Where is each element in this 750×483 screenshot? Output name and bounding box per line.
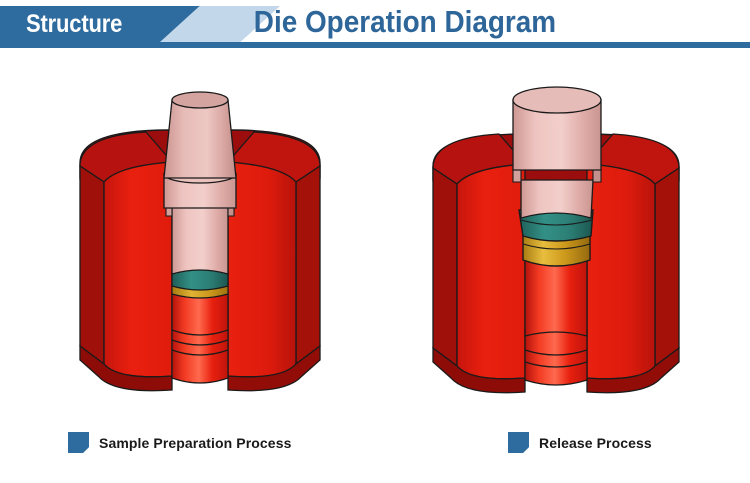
page-header: Structure Die Operation Diagram (0, 0, 750, 52)
punch-cone-head (164, 100, 236, 178)
page-title: Die Operation Diagram (0, 4, 750, 40)
die-diagram-release (415, 78, 695, 418)
punch-shaft (172, 206, 228, 274)
page-title-text: Die Operation Diagram (254, 4, 556, 40)
bullet-square-icon (68, 432, 89, 453)
die-left-bevel (80, 166, 104, 364)
figure-release (415, 78, 695, 418)
caption-label: Sample Preparation Process (99, 435, 291, 451)
upper-red-column (525, 256, 587, 336)
punch-top-face (513, 87, 601, 113)
die-right-bevel (296, 166, 320, 364)
figure-sample-preparation (60, 78, 340, 418)
die-left-front-face (104, 162, 172, 377)
bullet-square-icon (508, 432, 529, 453)
die-right-front-face (587, 164, 655, 379)
punch-lower-flange (521, 180, 593, 218)
die-right-bevel (655, 168, 679, 366)
die-left-front-face (457, 164, 525, 379)
die-diagram-sample-preparation (60, 78, 340, 418)
die-right-front-face (228, 162, 296, 377)
inner-red-column (172, 293, 228, 383)
caption-label: Release Process (539, 435, 652, 451)
punch-top-face (172, 92, 228, 108)
caption-sample-preparation: Sample Preparation Process (68, 432, 291, 453)
page-root: Structure Die Operation Diagram (0, 0, 750, 483)
inner-red-column (525, 330, 587, 385)
caption-release: Release Process (508, 432, 652, 453)
header-rule (0, 42, 750, 48)
die-left-bevel (433, 168, 457, 366)
